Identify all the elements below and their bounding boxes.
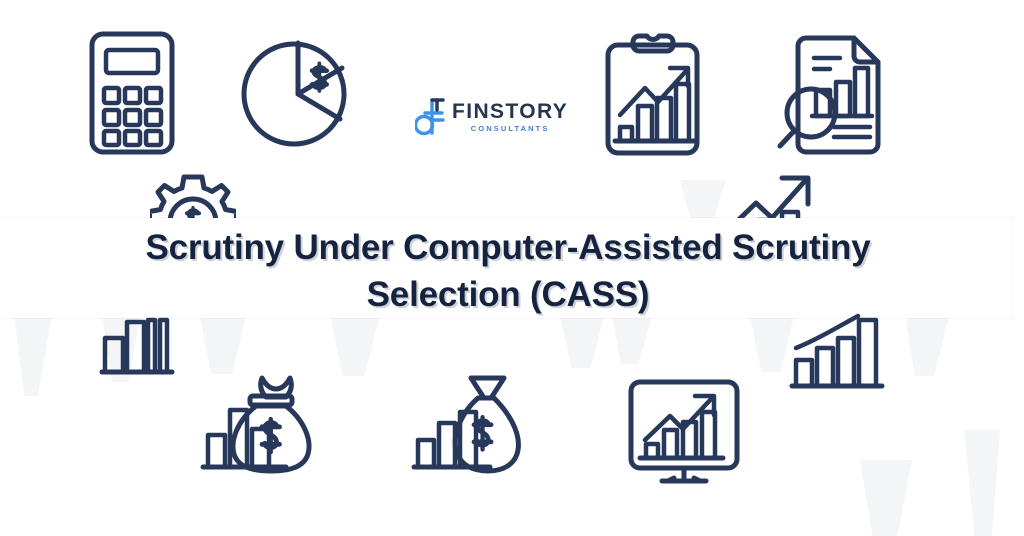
monitor-growth-chart-icon — [626, 378, 744, 490]
bar-chart-small-icon — [100, 318, 190, 380]
watermark-shape — [750, 316, 794, 372]
finstory-monogram-icon — [415, 96, 445, 138]
watermark-shape — [860, 460, 912, 536]
brand-logo: FINSTORY CONSULTANTS — [415, 96, 568, 138]
money-bag-bars-icon — [200, 372, 325, 477]
watermark-shape — [330, 316, 380, 376]
brand-logo-wordmark: FINSTORY CONSULTANTS — [452, 101, 568, 134]
money-bag-growth-icon — [412, 372, 532, 477]
clipboard-growth-chart-icon — [602, 32, 707, 157]
watermark-shape — [200, 316, 246, 374]
brand-tagline: CONSULTANTS — [452, 123, 568, 134]
gear-dollar-icon — [150, 172, 236, 220]
watermark-shape — [680, 180, 726, 220]
page-title: Scrutiny Under Computer-Assisted Scrutin… — [0, 224, 1016, 318]
calculator-icon — [88, 28, 183, 158]
growth-bar-chart-icon — [790, 318, 890, 396]
watermark-shape — [960, 430, 1000, 536]
banner-canvas: FINSTORY CONSULTANTS — [0, 0, 1024, 536]
watermark-shape — [14, 316, 52, 396]
page-title-line-1: Scrutiny Under Computer-Assisted Scrutin… — [0, 224, 1016, 271]
page-title-line-2: Selection (CASS) — [0, 271, 1016, 318]
watermark-shape — [612, 316, 652, 364]
document-magnifier-icon — [778, 28, 890, 156]
pie-chart-dollar-icon — [242, 35, 354, 153]
brand-name: FINSTORY — [452, 101, 568, 123]
line-chart-arrow-icon — [724, 170, 816, 220]
watermark-shape — [560, 316, 604, 368]
watermark-shape — [905, 316, 949, 376]
